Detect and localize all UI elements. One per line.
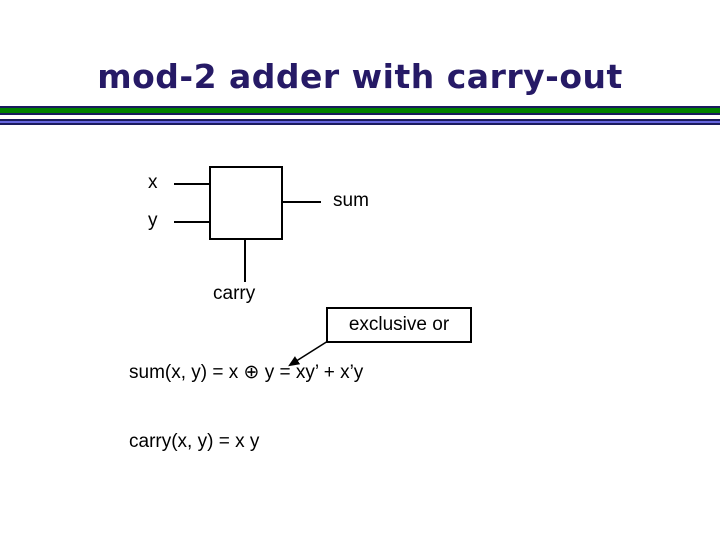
- page-title: mod-2 adder with carry-out: [0, 57, 720, 96]
- input-wire-y: [174, 221, 211, 223]
- callout-label: exclusive or: [349, 314, 449, 336]
- input-label-y: y: [148, 210, 158, 232]
- divider-green-bar: [0, 106, 720, 115]
- input-wire-x: [174, 183, 211, 185]
- equation-sum-rhs: y = xy’ + x’y: [259, 362, 363, 383]
- input-label-x: x: [148, 172, 158, 194]
- equation-sum: sum(x, y) = x ⊕ y = xy’ + x’y: [129, 361, 363, 384]
- slide-canvas: mod-2 adder with carry-out x y sum carry…: [0, 0, 720, 540]
- output-wire-sum: [282, 201, 321, 203]
- equation-sum-lhs: sum(x, y) = x: [129, 362, 244, 383]
- output-label-sum: sum: [333, 190, 369, 212]
- output-wire-carry: [244, 239, 246, 282]
- output-label-carry: carry: [213, 283, 255, 305]
- divider-blue-bar: [0, 119, 720, 125]
- callout-box: exclusive or: [326, 307, 472, 343]
- adder-block: [209, 166, 283, 240]
- equation-carry: carry(x, y) = x y: [129, 431, 259, 453]
- xor-operator: ⊕: [244, 361, 260, 383]
